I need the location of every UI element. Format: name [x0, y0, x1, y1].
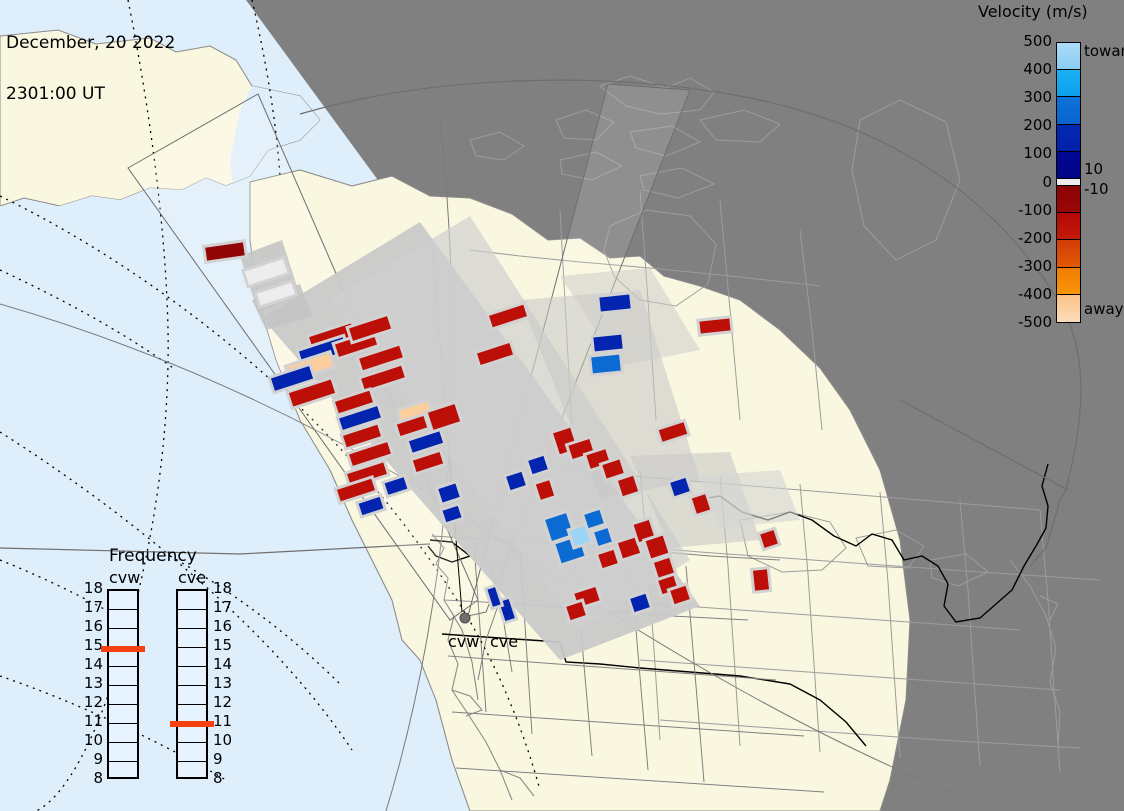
velocity-cell — [753, 569, 769, 590]
gauge-name-cvw: cvw — [109, 568, 140, 587]
radar-site-marker — [460, 613, 470, 623]
colorbar-title: Velocity (m/s) — [978, 2, 1088, 21]
colorbar-tick: -200 — [1018, 231, 1052, 246]
gauge-cell — [178, 629, 206, 648]
frequency-tick-cvw: 18 — [81, 581, 103, 596]
frequency-tick-cvw: 17 — [81, 600, 103, 615]
gauge-cell — [178, 610, 206, 629]
gauge-cell — [178, 743, 206, 762]
gauge-cell — [178, 762, 206, 781]
timestamp-time: 2301:00 UT — [6, 86, 175, 103]
colorbar-gradient — [1056, 42, 1081, 323]
colorbar-tick: -500 — [1018, 315, 1052, 330]
frequency-tick-cvw: 12 — [81, 695, 103, 710]
frequency-title: Frequency — [109, 546, 197, 566]
colorbar-segment — [1057, 179, 1080, 186]
frequency-tick-cve: 13 — [213, 676, 232, 691]
colorbar-segment — [1057, 97, 1080, 124]
colorbar-tick: -100 — [1018, 203, 1052, 218]
colorbar-tick: 100 — [1023, 146, 1052, 161]
gauge-cell — [178, 648, 206, 667]
frequency-legend: Frequency cvw cve 18171615141312111098 1… — [85, 546, 240, 786]
gauge-cell — [109, 667, 137, 686]
frequency-tick-cve: 11 — [213, 714, 232, 729]
radar-fan-plot: December, 20 2022 2301:00 UT cvw cve Vel… — [0, 0, 1124, 811]
frequency-tick-cvw: 11 — [81, 714, 103, 729]
frequency-tick-cve: 15 — [213, 638, 232, 653]
timestamp-date: December, 20 2022 — [6, 35, 175, 52]
frequency-tick-cvw: 14 — [81, 657, 103, 672]
colorbar-tick: -300 — [1018, 259, 1052, 274]
gauge-cell — [109, 762, 137, 781]
colorbar-away-label: away — [1084, 302, 1124, 317]
colorbar-segment — [1057, 152, 1080, 179]
frequency-gauge-cvw — [107, 589, 139, 779]
frequency-tick-cve: 10 — [213, 733, 232, 748]
frequency-gauge-cve — [176, 589, 208, 779]
colorbar-tick: 500 — [1023, 34, 1052, 49]
frequency-tick-cve: 18 — [213, 581, 232, 596]
colorbar-zero-low-label: -10 — [1084, 182, 1109, 197]
gauge-cell — [109, 724, 137, 743]
colorbar-toward-label: toward — [1084, 44, 1124, 59]
frequency-tick-cvw: 13 — [81, 676, 103, 691]
colorbar-segment — [1057, 295, 1080, 322]
gauge-name-cve: cve — [178, 568, 206, 587]
colorbar-segment — [1057, 43, 1080, 70]
gauge-cell — [109, 743, 137, 762]
colorbar-tick: 300 — [1023, 90, 1052, 105]
frequency-tick-cvw: 16 — [81, 619, 103, 634]
colorbar-segment — [1057, 240, 1080, 267]
site-label-cve: cve — [490, 632, 518, 651]
colorbar-segment — [1057, 213, 1080, 240]
velocity-cell — [591, 355, 621, 374]
frequency-tick-cve: 12 — [213, 695, 232, 710]
colorbar-zero-high-label: 10 — [1084, 162, 1103, 177]
colorbar-tick: 200 — [1023, 118, 1052, 133]
timestamp: December, 20 2022 2301:00 UT — [6, 1, 175, 137]
frequency-tick-cvw: 8 — [81, 771, 103, 786]
colorbar-segment — [1057, 268, 1080, 295]
colorbar-segment — [1057, 125, 1080, 152]
gauge-cell — [109, 591, 137, 610]
colorbar-segment — [1057, 70, 1080, 97]
frequency-tick-cvw: 9 — [81, 752, 103, 767]
gauge-cell — [178, 686, 206, 705]
velocity-colorbar: Velocity (m/s) 5004003002001000-100-200-… — [960, 0, 1124, 340]
gauge-cell — [109, 705, 137, 724]
colorbar-segment — [1057, 186, 1080, 213]
frequency-marker-cve — [170, 721, 214, 727]
frequency-marker-cvw — [101, 646, 145, 652]
gauge-cell — [178, 591, 206, 610]
velocity-cell — [593, 335, 622, 352]
colorbar-tick: -400 — [1018, 287, 1052, 302]
gauge-cell — [109, 686, 137, 705]
frequency-tick-cve: 16 — [213, 619, 232, 634]
gauge-cell — [178, 667, 206, 686]
frequency-tick-cve: 14 — [213, 657, 232, 672]
frequency-tick-cvw: 15 — [81, 638, 103, 653]
frequency-tick-cve: 17 — [213, 600, 232, 615]
frequency-tick-cve: 8 — [213, 771, 223, 786]
gauge-cell — [109, 610, 137, 629]
frequency-tick-cve: 9 — [213, 752, 223, 767]
frequency-tick-cvw: 10 — [81, 733, 103, 748]
colorbar-tick: 400 — [1023, 62, 1052, 77]
colorbar-tick: 0 — [1042, 175, 1052, 190]
site-label-cvw: cvw — [448, 632, 479, 651]
